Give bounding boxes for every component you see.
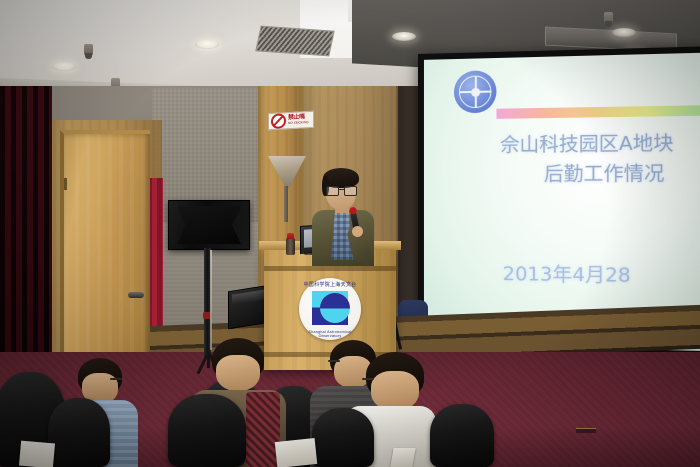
- projector-mount-icon: [604, 12, 613, 25]
- eyeglasses-icon: [328, 360, 340, 362]
- tripod-leg: [207, 352, 210, 368]
- downlight-icon: [52, 62, 76, 71]
- audience-chair[interactable]: [168, 394, 246, 467]
- door-hinge-icon: [64, 178, 67, 190]
- emblem-circle-icon: [320, 293, 350, 323]
- door-handle-icon[interactable]: [128, 292, 144, 298]
- audience-scarf: [246, 392, 280, 467]
- slide-date: 2013年4月28: [503, 259, 700, 290]
- left-stage-curtain: [0, 86, 52, 378]
- seal-center-icon: [471, 87, 480, 96]
- eyeglasses-icon: [110, 378, 122, 380]
- presenter-hand: [352, 226, 363, 237]
- observatory-seal-icon: [454, 70, 497, 113]
- downlight-icon: [612, 28, 636, 37]
- ceiling-air-vent-left: [255, 26, 335, 57]
- emblem-english-text: Shanghai Astronomical Observatory: [299, 330, 361, 338]
- wall-sconce-stem: [284, 186, 288, 222]
- emblem-chinese-text: 中国科学院上海天文台: [299, 281, 361, 288]
- slide-accent-bar: [496, 105, 700, 119]
- slide-title-line-1: 佘山科技园区A地块: [456, 128, 700, 160]
- audience-chair[interactable]: [312, 408, 374, 467]
- slide-title: 佘山科技园区A地块 后勤工作情况: [456, 128, 700, 189]
- audience-chair[interactable]: [48, 398, 110, 467]
- presenter: [306, 168, 382, 263]
- water-bottle[interactable]: [286, 238, 295, 255]
- no-smoking-sign: 禁止嗎 NO SMOKING: [268, 111, 314, 130]
- eyeglasses-icon: [326, 186, 357, 194]
- no-smoking-icon: [271, 113, 286, 129]
- sprinkler-head-icon: [84, 44, 93, 57]
- side-door[interactable]: [60, 130, 150, 362]
- floor-outlet-icon: [576, 428, 596, 433]
- pa-speaker-cable: [210, 250, 212, 350]
- slide-title-line-2: 后勤工作情况: [456, 158, 700, 189]
- handout-paper[interactable]: [390, 448, 415, 467]
- audience-chair[interactable]: [430, 404, 494, 467]
- handout-paper[interactable]: [275, 438, 317, 467]
- audience-face: [216, 355, 260, 391]
- presentation-photo-scene: 禁止嗎 NO SMOKING 佘山科技园区A地块 后勤工作情况 2013年4月2…: [0, 0, 700, 467]
- podium-trim-band: [264, 266, 396, 271]
- audience-head: [212, 338, 264, 396]
- eyeglasses-icon: [362, 378, 374, 380]
- handout-paper[interactable]: [19, 441, 55, 467]
- downlight-icon: [392, 32, 416, 41]
- observatory-emblem: 中国科学院上海天文台 Shanghai Astronomical Observa…: [299, 278, 361, 340]
- audience-face: [371, 371, 420, 411]
- no-smoking-sublabel: NO SMOKING: [288, 121, 309, 125]
- pa-speaker: [168, 200, 250, 250]
- downlight-icon: [195, 40, 219, 49]
